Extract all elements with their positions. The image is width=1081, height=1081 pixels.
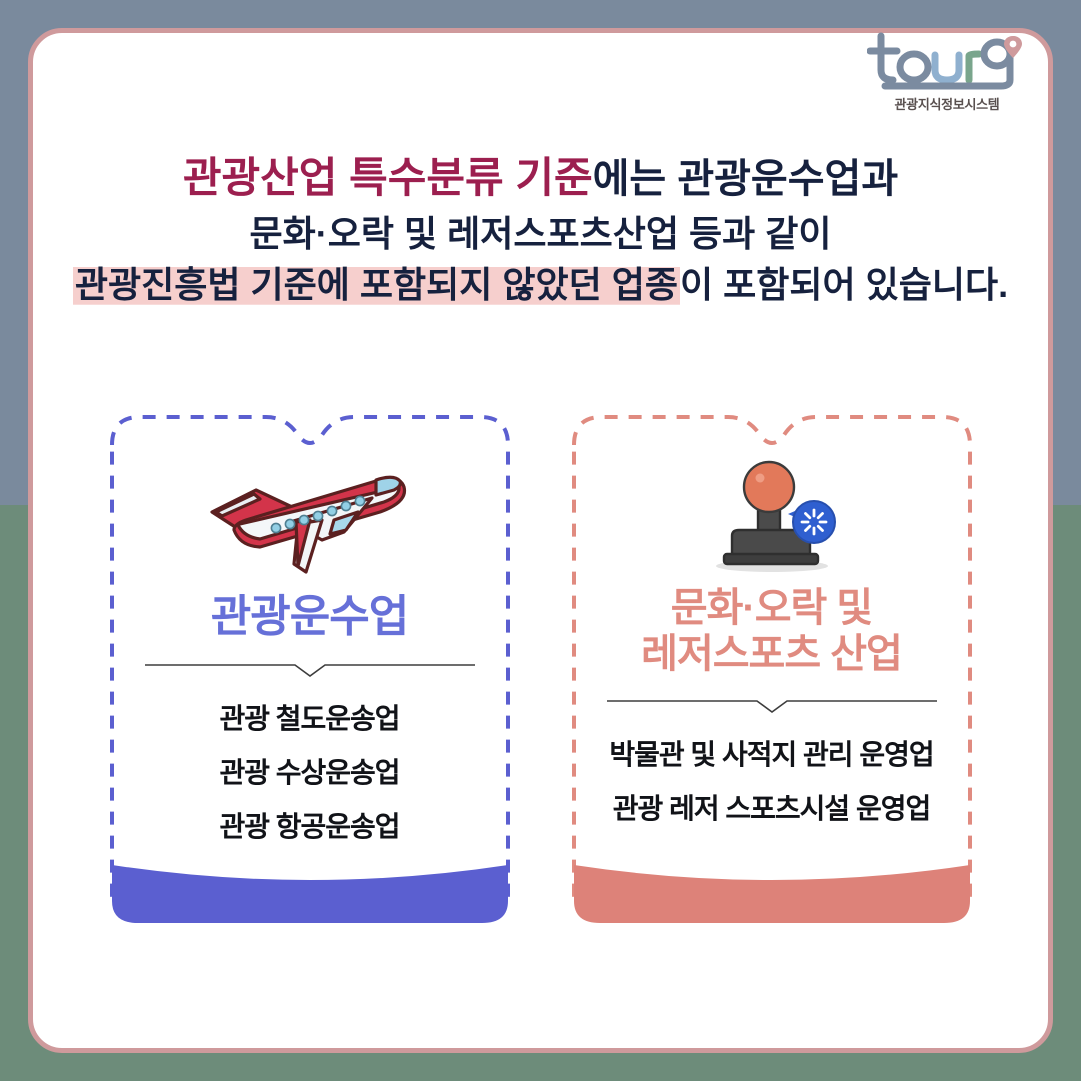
headline-line-2: 문화·오락 및 레저스포츠산업 등과 같이 [0,208,1081,259]
category-cards: 관광운수업 관광 철도운송업 관광 수상운송업 관광 항공운송업 [0,405,1081,930]
card-title-culture-leisure-sports: 문화·오락 및 레저스포츠 산업 [641,585,902,678]
list-item: 관광 철도운송업 [219,705,399,733]
card-title-line: 문화·오락 및 [641,585,902,631]
card-title-line: 레저스포츠 산업 [641,631,902,677]
list-item: 박물관 및 사적지 관리 운영업 [609,741,933,769]
airplane-icon-wrap [194,449,426,579]
card-divider [607,696,937,719]
headline-line-1: 관광산업 특수분류 기준에는 관광운수업과 [0,148,1081,208]
list-item: 관광 수상운송업 [219,759,399,787]
list-item: 관광 레저 스포츠시설 운영업 [609,795,933,823]
card-item-list-culture-leisure-sports: 박물관 및 사적지 관리 운영업 관광 레저 스포츠시설 운영업 [609,741,933,849]
card-culture-leisure-sports[interactable]: 문화·오락 및 레저스포츠 산업 박물관 및 사적지 관리 운영업 관광 레저 … [568,405,976,930]
page-headline: 관광산업 특수분류 기준에는 관광운수업과 문화·오락 및 레저스포츠산업 등과… [0,148,1081,310]
tourgo-wordmark-icon [867,30,1027,92]
airplane-icon [194,454,426,574]
card-tourism-transport[interactable]: 관광운수업 관광 철도운송업 관광 수상운송업 관광 항공운송업 [106,405,514,930]
logo-subtitle: 관광지식정보시스템 [857,94,1037,113]
headline-highlighted-text: 관광진흥법 기준에 포함되지 않았던 업종 [73,264,680,305]
headline-line-3: 관광진흥법 기준에 포함되지 않았던 업종이 포함되어 있습니다. [0,259,1081,310]
headline-line-1-rest: 에는 관광운수업과 [593,157,899,201]
list-item: 관광 항공운송업 [219,813,399,841]
joystick-icon-wrap [692,449,852,579]
headline-line-3-rest: 이 포함되어 있습니다. [680,264,1008,305]
headline-emphasis: 관광산업 특수분류 기준 [183,154,593,201]
card-title-tourism-transport: 관광운수업 [211,591,408,642]
divider-with-notch-icon [607,696,937,714]
card-divider [145,660,475,683]
card-item-list-tourism-transport: 관광 철도운송업 관광 수상운송업 관광 항공운송업 [219,705,399,867]
tourgo-logo[interactable]: 관광지식정보시스템 [857,30,1037,113]
joystick-icon [692,454,852,574]
divider-with-notch-icon [145,660,475,678]
card-title-line: 관광운수업 [211,591,408,642]
